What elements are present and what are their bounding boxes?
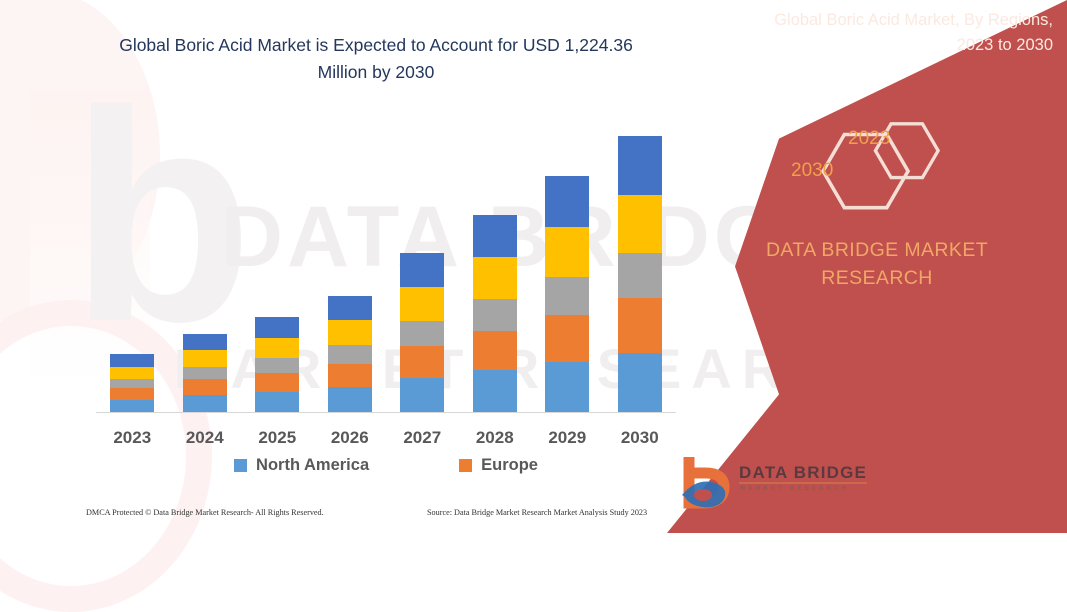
chart-title: Global Boric Acid Market is Expected to … — [96, 32, 656, 86]
stacked-bar[interactable] — [110, 354, 154, 412]
x-axis-line — [96, 412, 676, 413]
bar-slot — [604, 100, 677, 412]
bar-segment[interactable] — [618, 136, 662, 195]
stacked-bar[interactable] — [328, 296, 372, 412]
bar-segment[interactable] — [110, 367, 154, 379]
bar-segment[interactable] — [545, 277, 589, 315]
x-axis-tick-label: 2029 — [531, 428, 604, 448]
bar-segment[interactable] — [400, 378, 444, 412]
legend-swatch-icon — [234, 459, 247, 472]
bar-segment[interactable] — [618, 195, 662, 253]
company-logo: DATA BRIDGE MARKET RESEARCH — [677, 455, 897, 515]
bar-segment[interactable] — [110, 354, 154, 367]
bar-slot — [241, 100, 314, 412]
bar-segment[interactable] — [545, 227, 589, 277]
legend-swatch-icon — [459, 459, 472, 472]
x-axis-tick-label: 2028 — [459, 428, 532, 448]
bar-segment[interactable] — [255, 392, 299, 412]
legend-label: North America — [256, 456, 369, 475]
bar-segment[interactable] — [473, 215, 517, 257]
bar-segment[interactable] — [183, 350, 227, 367]
bar-segment[interactable] — [328, 364, 372, 387]
bar-segment[interactable] — [110, 388, 154, 400]
logo-divider — [739, 482, 867, 484]
bar-slot — [459, 100, 532, 412]
stacked-bar[interactable] — [545, 176, 589, 412]
bar-segment[interactable] — [183, 334, 227, 350]
bar-segment[interactable] — [473, 257, 517, 299]
footer-source: Source: Data Bridge Market Research Mark… — [427, 508, 647, 517]
bar-segment[interactable] — [328, 387, 372, 412]
bar-segment[interactable] — [255, 317, 299, 338]
logo-tagline: MARKET RESEARCH — [740, 485, 849, 492]
legend-item[interactable]: North America — [234, 456, 369, 475]
bar-segment[interactable] — [255, 358, 299, 373]
bar-segment[interactable] — [110, 379, 154, 388]
chart-legend: North AmericaEurope — [96, 456, 676, 475]
bar-segment[interactable] — [183, 395, 227, 412]
stacked-bar[interactable] — [618, 136, 662, 412]
bar-segment[interactable] — [183, 367, 227, 379]
infographic-root: b DATA BRIDGE MARKET RESEARCH Global Bor… — [0, 0, 1067, 533]
bar-segment[interactable] — [473, 299, 517, 331]
legend-item[interactable]: Europe — [459, 456, 538, 475]
logo-wordmark: DATA BRIDGE — [739, 463, 867, 483]
bar-slot — [96, 100, 169, 412]
stacked-bar[interactable] — [473, 215, 517, 412]
bar-slot — [386, 100, 459, 412]
hexagon-2030-label: 2030 — [791, 160, 833, 182]
bar-segment[interactable] — [400, 253, 444, 287]
right-panel-content: Global Boric Acid Market, By Regions, 20… — [667, 0, 1067, 533]
bar-segment[interactable] — [400, 346, 444, 378]
footer: DMCA Protected © Data Bridge Market Rese… — [0, 508, 700, 526]
bar-segment[interactable] — [400, 321, 444, 346]
bar-segment[interactable] — [618, 298, 662, 353]
x-axis-labels: 20232024202520262027202820292030 — [96, 428, 676, 448]
x-axis-tick-label: 2026 — [314, 428, 387, 448]
bar-segment[interactable] — [183, 379, 227, 395]
x-axis-tick-label: 2024 — [169, 428, 242, 448]
stacked-bar[interactable] — [183, 334, 227, 412]
chart-plot-area — [96, 100, 676, 413]
hexagon-2023-label: 2023 — [848, 128, 890, 150]
bar-segment[interactable] — [255, 338, 299, 358]
stacked-bar[interactable] — [255, 317, 299, 412]
bar-segment[interactable] — [545, 362, 589, 412]
bar-segment[interactable] — [255, 373, 299, 392]
bar-segment[interactable] — [400, 287, 444, 321]
bar-segment[interactable] — [328, 345, 372, 364]
bar-segment[interactable] — [110, 400, 154, 412]
bar-segment[interactable] — [618, 353, 662, 412]
logo-bridge-icon — [677, 457, 737, 513]
legend-label: Europe — [481, 456, 538, 475]
footer-copyright: DMCA Protected © Data Bridge Market Rese… — [86, 508, 324, 517]
stacked-bar[interactable] — [400, 253, 444, 412]
bar-segment[interactable] — [545, 315, 589, 362]
bar-slot — [531, 100, 604, 412]
bar-segment[interactable] — [473, 370, 517, 412]
bar-slot — [169, 100, 242, 412]
brand-name: DATA BRIDGE MARKET RESEARCH — [727, 236, 1027, 292]
x-axis-tick-label: 2025 — [241, 428, 314, 448]
bar-slot — [314, 100, 387, 412]
bar-segment[interactable] — [545, 176, 589, 227]
bar-segment[interactable] — [328, 296, 372, 320]
x-axis-tick-label: 2023 — [96, 428, 169, 448]
bar-segment[interactable] — [328, 320, 372, 345]
bar-segment[interactable] — [618, 253, 662, 298]
bar-segment[interactable] — [473, 331, 517, 370]
bar-group — [96, 100, 676, 412]
x-axis-tick-label: 2030 — [604, 428, 677, 448]
x-axis-tick-label: 2027 — [386, 428, 459, 448]
